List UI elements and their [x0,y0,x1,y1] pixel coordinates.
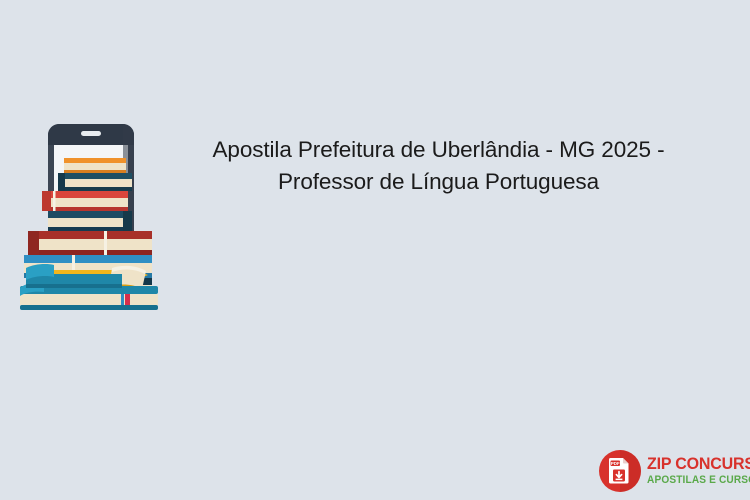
product-title-block: Apostila Prefeitura de Uberlândia - MG 2… [186,134,691,198]
svg-text:PDF: PDF [611,461,620,466]
brand-name: ZIP CONCURSOS [647,456,750,473]
book-orange [64,158,126,174]
brand-logo[interactable]: PDF ZIP CONCURSOS APOSTILAS E CURSOS [598,448,738,494]
page-title: Apostila Prefeitura de Uberlândia - MG 2… [186,134,691,198]
book-red [42,191,128,211]
book-dark-navy [34,278,152,297]
book-maroon [28,231,152,255]
book-dark-teal [58,173,132,191]
pdf-download-icon: PDF [598,449,642,493]
brand-text: ZIP CONCURSOS APOSTILAS E CURSOS [647,456,750,486]
book-blue [24,255,152,278]
books-and-tablet-illustration [12,118,172,310]
book-navy [48,211,132,231]
brand-tagline: APOSTILAS E CURSOS [647,475,750,486]
product-banner: Apostila Prefeitura de Uberlândia - MG 2… [0,0,750,500]
